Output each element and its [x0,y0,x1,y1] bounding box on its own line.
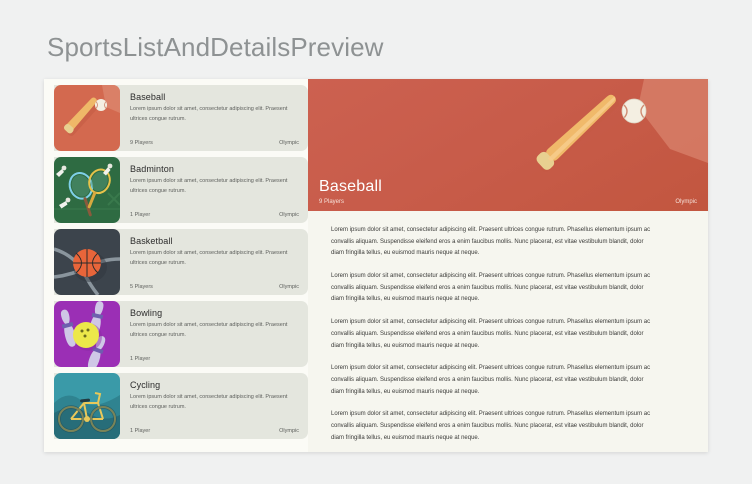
list-item-body: BadmintonLorem ipsum dolor sit amet, con… [120,157,308,223]
list-item-description: Lorem ipsum dolor sit amet, consectetur … [130,177,288,196]
list-item[interactable]: CyclingLorem ipsum dolor sit amet, conse… [54,373,308,439]
detail-title: Baseball [319,177,697,197]
list-item-footer: 1 Player [130,356,299,362]
detail-paragraph: Lorem ipsum dolor sit amet, consectetur … [331,409,653,444]
detail-paragraph: Lorem ipsum dolor sit amet, consectetur … [331,271,653,306]
list-item-footer: 1 PlayerOlympic [130,212,299,218]
basketball-icon [54,229,120,295]
sports-list[interactable]: BaseballLorem ipsum dolor sit amet, cons… [44,79,308,452]
badminton-rackets-icon [54,157,120,223]
page-title: SportsListAndDetailsPreview [47,32,384,63]
detail-paragraph: Lorem ipsum dolor sit amet, consectetur … [331,317,653,352]
list-item[interactable]: BasketballLorem ipsum dolor sit amet, co… [54,229,308,295]
list-item-title: Cycling [130,380,299,390]
list-item-title: Baseball [130,92,299,102]
list-item-body: CyclingLorem ipsum dolor sit amet, conse… [120,373,308,439]
detail-hero-text: Baseball 9 Players Olympic [308,177,708,211]
list-item-players: 9 Players [130,140,153,146]
list-item-title: Basketball [130,236,299,246]
list-item-body: BasketballLorem ipsum dolor sit amet, co… [120,229,308,295]
list-item-body: BaseballLorem ipsum dolor sit amet, cons… [120,85,308,151]
baseball-bat-and-ball-icon [54,85,120,151]
list-item-title: Bowling [130,308,299,318]
list-item-category-badge: Olympic [279,428,299,434]
list-item-players: 1 Player [130,428,150,434]
list-item-category-badge: Olympic [279,284,299,290]
list-item-category-badge: Olympic [279,212,299,218]
bicycle-icon [54,373,120,439]
list-item-footer: 1 PlayerOlympic [130,428,299,434]
list-item-body: BowlingLorem ipsum dolor sit amet, conse… [120,301,308,367]
detail-category-badge: Olympic [675,199,697,205]
list-item-description: Lorem ipsum dolor sit amet, consectetur … [130,249,288,268]
list-item-players: 1 Player [130,212,150,218]
detail-pane: Baseball 9 Players Olympic Lorem ipsum d… [308,79,708,452]
detail-paragraph: Lorem ipsum dolor sit amet, consectetur … [331,363,653,398]
list-item-category-badge: Olympic [279,140,299,146]
detail-hero: Baseball 9 Players Olympic [308,79,708,211]
list-item-players: 5 Players [130,284,153,290]
detail-paragraph: Lorem ipsum dolor sit amet, consectetur … [331,225,653,260]
list-item[interactable]: BadmintonLorem ipsum dolor sit amet, con… [54,157,308,223]
detail-hero-meta: 9 Players Olympic [319,199,697,205]
detail-body: Lorem ipsum dolor sit amet, consectetur … [308,211,708,452]
app-window: BaseballLorem ipsum dolor sit amet, cons… [44,79,708,452]
list-item-title: Badminton [130,164,299,174]
list-item-footer: 5 PlayersOlympic [130,284,299,290]
detail-players: 9 Players [319,199,344,205]
list-item-description: Lorem ipsum dolor sit amet, consectetur … [130,393,288,412]
list-item-description: Lorem ipsum dolor sit amet, consectetur … [130,105,288,124]
list-item[interactable]: BowlingLorem ipsum dolor sit amet, conse… [54,301,308,367]
list-item-players: 1 Player [130,356,150,362]
list-item-footer: 9 PlayersOlympic [130,140,299,146]
list-item-description: Lorem ipsum dolor sit amet, consectetur … [130,321,288,340]
list-item[interactable]: BaseballLorem ipsum dolor sit amet, cons… [54,85,308,151]
bowling-ball-and-pins-icon [54,301,120,367]
